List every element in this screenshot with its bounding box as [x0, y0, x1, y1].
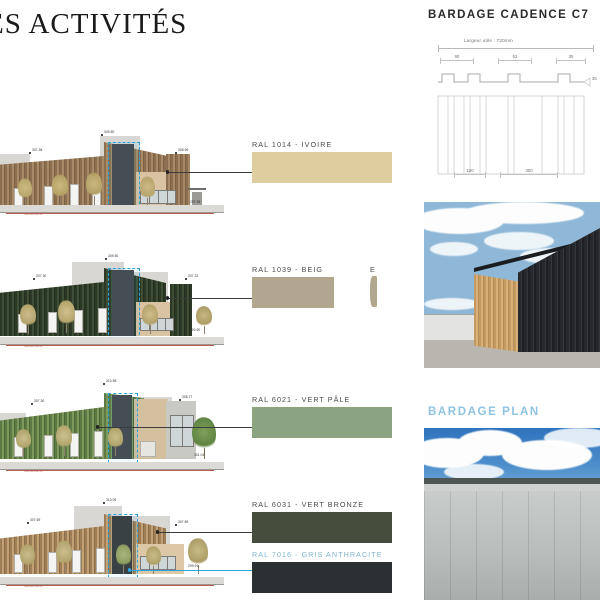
swatch-chip[interactable] [252, 562, 392, 593]
side-dimension-label: 35 [592, 76, 597, 81]
tree [58, 300, 75, 333]
tree [56, 425, 72, 456]
swatch-chip[interactable] [252, 277, 334, 308]
tree [16, 429, 31, 457]
leader-line [156, 532, 252, 533]
level-marker: 308.77 [182, 395, 192, 399]
ground-strip [0, 577, 224, 584]
photo-bardage-plan [424, 428, 600, 600]
elevation-vert-bronze: VARIANTE 04 310.09 307.69 307.89 299.91 [0, 492, 224, 600]
swatch-label: RAL 6031 - VERT BRONZE [252, 500, 392, 509]
tree [20, 304, 36, 334]
technical-profile-drawing: Largeur utile : 720mm 90 52 35 [424, 34, 600, 194]
swatch-label: RAL 6021 - VERT PÂLE [252, 395, 392, 404]
window [70, 184, 79, 207]
page-title: ES ACTIVITÉS [0, 8, 187, 41]
swatch-chip[interactable] [252, 407, 392, 438]
swatch-label-overflow: E [370, 265, 376, 274]
window [94, 431, 103, 457]
swatch-label: RAL 1039 - BEIG [252, 265, 334, 274]
dimension-line: VARIANTE 03 [6, 470, 214, 477]
level-marker: 307.69 [30, 518, 40, 522]
tree [86, 172, 102, 206]
window [96, 548, 105, 573]
swatch-gris-anthracite: RAL 7016 - GRIS ANTHRACITE [252, 550, 392, 593]
level-marker: 300.90 [190, 328, 200, 332]
window [74, 310, 83, 333]
swatch-label: RAL 1014 - IVOIRE [252, 140, 392, 149]
window [98, 308, 107, 333]
window [48, 312, 57, 333]
page-title-text: ES ACTIVITÉS [0, 8, 187, 40]
ground-strip [0, 205, 224, 212]
cloud [430, 242, 478, 256]
profile-section-svg [424, 34, 600, 184]
tree [108, 427, 123, 456]
highlight-band [108, 142, 140, 214]
site-equipment [188, 188, 206, 190]
swatch-chip[interactable] [252, 152, 392, 183]
highlight-band [108, 268, 140, 340]
swatch-vert-bronze: RAL 6031 - VERT BRONZE [252, 500, 392, 543]
ground-strip [0, 462, 224, 469]
swatch-sliver [370, 276, 377, 307]
elevation-ivoire: VARIANTE 01 309.50 308.96 307.38 297.95 [0, 128, 224, 228]
level-marker: 307.38 [32, 148, 42, 152]
level-marker: 309.50 [104, 130, 114, 134]
level-marker: 307.32 [188, 274, 198, 278]
tree [56, 540, 72, 573]
tree [20, 544, 35, 574]
level-marker: 297.95 [190, 200, 200, 204]
level-marker: 299.91 [188, 564, 198, 568]
tree [142, 304, 158, 334]
tan-cladding-wall [474, 274, 520, 352]
swatch-ivoire: RAL 1014 - IVOIRE [252, 140, 392, 183]
bottom-dimension: 120 [454, 174, 486, 175]
ground-strip [0, 337, 224, 344]
leader-line-anthracite [128, 570, 252, 571]
dimension-line: VARIANTE 01 [6, 213, 214, 220]
elevation-vert-pale: VARIANTE 03 310.98 307.30 308.77 301.04 [0, 375, 224, 485]
level-marker: 301.04 [194, 453, 204, 457]
leader-line [166, 298, 252, 299]
dimension-text: VARIANTE 03 [24, 470, 43, 473]
swatch-label: RAL 7016 - GRIS ANTHRACITE [252, 550, 392, 559]
swatch-beige: RAL 1039 - BEIG E [252, 265, 334, 308]
presentation-board: ES ACTIVITÉS [0, 0, 600, 600]
cloud [424, 298, 480, 310]
dimension-text: VARIANTE 01 [24, 213, 43, 216]
swatch-vert-pale: RAL 6021 - VERT PÂLE [252, 395, 392, 438]
level-marker: 310.98 [106, 379, 116, 383]
level-marker: 308.96 [178, 148, 188, 152]
tree [18, 178, 32, 206]
level-marker: 307.30 [34, 399, 44, 403]
leader-line [166, 172, 252, 173]
glazing-panel [170, 415, 194, 447]
level-marker: 309.50 [108, 254, 118, 258]
swatch-chip[interactable] [252, 512, 392, 543]
cladding-profile-title: BARDAGE CADENCE C7 [428, 9, 589, 21]
tree [140, 176, 155, 207]
window [72, 550, 81, 573]
cloud [464, 202, 584, 224]
dimension-line: VARIANTE 02 [6, 345, 214, 352]
elevation-beige: VARIANTE 02 309.50 307.32 307.30 300.90 [0, 252, 224, 360]
cladding-plan-title: BARDAGE PLAN [428, 406, 540, 418]
dimension-text: VARIANTE 04 [24, 585, 43, 588]
level-marker: 307.89 [178, 520, 188, 524]
door [140, 441, 156, 457]
bottom-dimension: 300 [500, 174, 558, 175]
leader-line [96, 427, 252, 428]
level-marker: 310.09 [106, 498, 116, 502]
dimension-line: VARIANTE 04 [6, 585, 214, 592]
photo-bardage-cadence [424, 202, 600, 368]
tree [52, 174, 68, 206]
dimension-text: VARIANTE 02 [24, 345, 43, 348]
tree [188, 538, 208, 574]
level-marker: 307.30 [36, 274, 46, 278]
flat-panel-wall [424, 491, 600, 600]
window [44, 435, 53, 457]
